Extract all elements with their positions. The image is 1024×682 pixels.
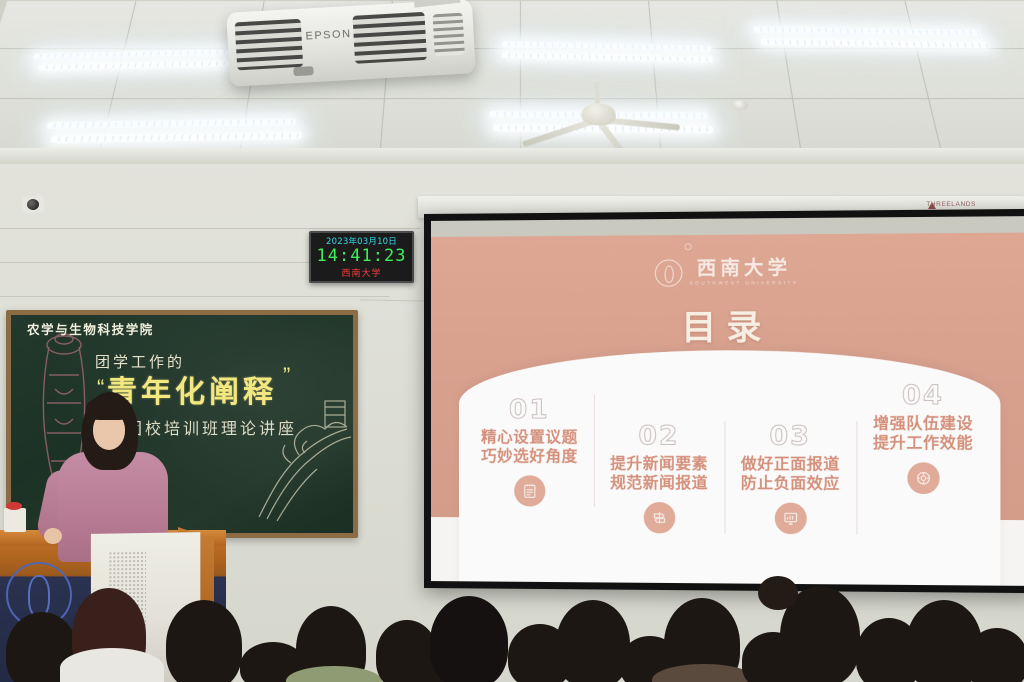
toc-card-line-1: 增强队伍建设 bbox=[873, 413, 973, 433]
projector-brand-label: EPSON bbox=[305, 28, 352, 43]
chart-board-icon bbox=[774, 502, 806, 534]
toc-card[interactable]: 01 精心设置议题 巧妙选好角度 bbox=[465, 395, 595, 507]
toc-card-number: 01 bbox=[509, 395, 549, 425]
security-camera bbox=[21, 195, 44, 213]
toc-card-line-2: 提升工作效能 bbox=[873, 433, 973, 453]
toc-card-line-2: 巧妙选好角度 bbox=[481, 446, 578, 466]
projector-vent bbox=[433, 13, 465, 57]
blackboard-header: 农学与生物科技学院 bbox=[27, 319, 154, 338]
clock-time: 14:41:23 bbox=[317, 248, 407, 265]
audience-head bbox=[166, 600, 242, 682]
cup bbox=[4, 508, 26, 532]
target-icon bbox=[907, 462, 939, 494]
toc-card[interactable]: 02 提升新闻要素 规范新闻报道 bbox=[594, 421, 725, 533]
presentation-slide: 西南大学 SOUTHWEST UNIVERSITY 目录 01 精心设置议题 巧… bbox=[431, 216, 1024, 586]
projector-vent bbox=[235, 19, 304, 71]
document-icon bbox=[514, 475, 545, 506]
university-logo: 西南大学 SOUTHWEST UNIVERSITY bbox=[655, 259, 799, 287]
projection-screen: 西南大学 SOUTHWEST UNIVERSITY 目录 01 精心设置议题 巧… bbox=[424, 209, 1024, 593]
toc-card-line-1: 精心设置议题 bbox=[481, 427, 578, 447]
clock-institution: 西南大学 bbox=[341, 266, 381, 279]
lecture-hall-scene: EPSON 2023年03月10日 14:41:23 西南大学 bbox=[0, 0, 1024, 682]
toc-card-line-2: 规范新闻报道 bbox=[610, 473, 708, 493]
toc-card-line-2: 防止负面效应 bbox=[741, 473, 840, 493]
toc-card-number: 02 bbox=[639, 421, 680, 451]
blackboard-headline: 青年化阐释 bbox=[107, 367, 277, 411]
university-seal-icon bbox=[655, 259, 683, 286]
toc-card-number: 04 bbox=[902, 381, 944, 412]
signpost-icon bbox=[643, 502, 675, 533]
toc-card[interactable]: 04 增强队伍建设 提升工作效能 bbox=[856, 380, 990, 494]
toc-card-list: 01 精心设置议题 巧妙选好角度 02 提升新闻要素 规范新闻报道 bbox=[459, 350, 1000, 586]
speaker-hand bbox=[44, 528, 62, 544]
audience-head bbox=[556, 600, 630, 682]
university-name-en: SOUTHWEST UNIVERSITY bbox=[690, 281, 799, 286]
smoke-detector bbox=[732, 100, 748, 110]
audience-head bbox=[966, 628, 1024, 682]
screen-brand-label: THREELANDS bbox=[926, 201, 976, 208]
wall-top-beam bbox=[0, 148, 1024, 164]
toc-card-line-1: 提升新闻要素 bbox=[610, 453, 708, 473]
blackboard-quote-close: ” bbox=[283, 363, 290, 389]
toc-card[interactable]: 03 做好正面报道 防止负面效应 bbox=[724, 421, 857, 534]
toc-card-line-1: 做好正面报道 bbox=[741, 454, 840, 474]
projector: EPSON bbox=[226, 0, 476, 87]
toc-card-number: 03 bbox=[770, 421, 811, 452]
audience-head bbox=[430, 596, 508, 682]
audience-shoulder bbox=[60, 648, 164, 682]
audience-head bbox=[758, 576, 798, 610]
projector-mount bbox=[413, 0, 461, 8]
university-name-cn: 西南大学 bbox=[697, 259, 791, 279]
projector-vent bbox=[352, 12, 427, 64]
digital-clock: 2023年03月10日 14:41:23 西南大学 bbox=[309, 231, 414, 283]
slide-title: 目录 bbox=[681, 299, 771, 349]
speaker-fringe bbox=[86, 396, 132, 420]
projector-lens bbox=[293, 66, 313, 76]
ceiling-fan-hub bbox=[581, 103, 616, 125]
